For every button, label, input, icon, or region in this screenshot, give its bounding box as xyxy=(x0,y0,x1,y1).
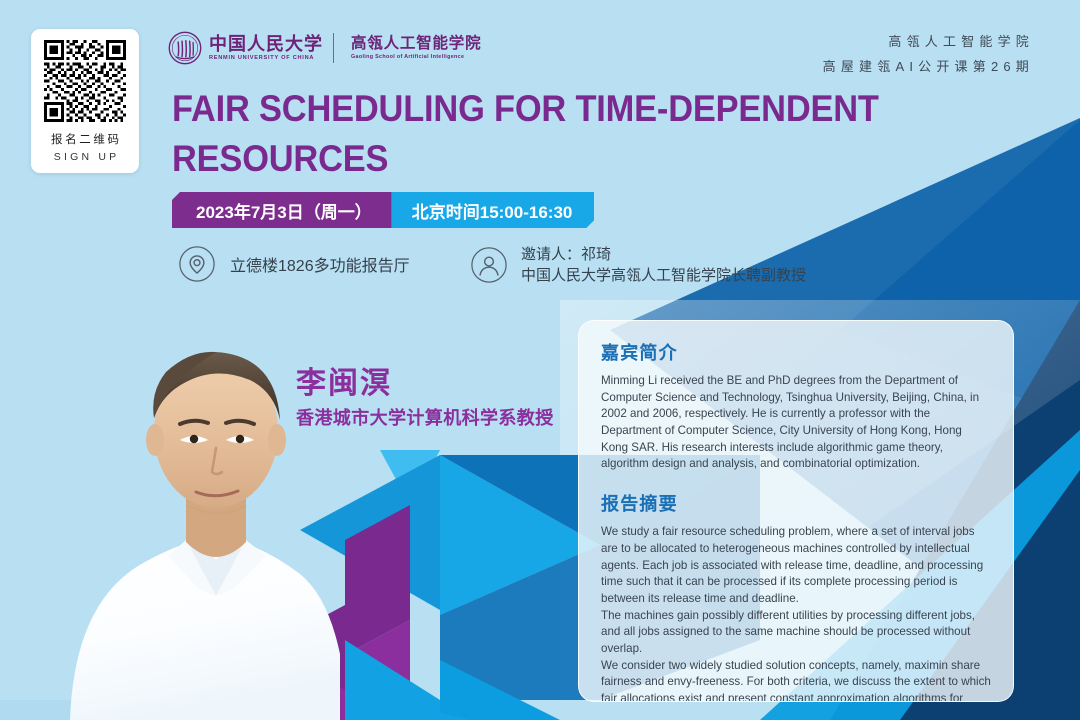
qr-signup-card[interactable]: 报名二维码 SIGN UP xyxy=(31,29,139,173)
qr-label-cn: 报名二维码 xyxy=(48,131,121,147)
abstract-paragraph-3: We consider two widely studied solution … xyxy=(601,658,991,702)
logo-university-en: RENMIN UNIVERSITY OF CHINA xyxy=(209,55,323,61)
host-name: 邀请人：祁琦 xyxy=(521,244,806,265)
person-icon xyxy=(470,246,508,284)
series-episode: 高屋建瓴AI公开课第26期 xyxy=(817,55,1034,80)
datetime-banner: 2023年7月3日（周一） 北京时间15:00-16:30 xyxy=(172,192,594,228)
logo-school-en: Gaoling School of Artificial Intelligenc… xyxy=(351,54,481,60)
lecture-series-info: 高瓴人工智能学院 高屋建瓴AI公开课第26期 xyxy=(817,30,1034,79)
speaker-affiliation: 香港城市大学计算机科学系教授 xyxy=(296,404,554,430)
info-panel: 嘉宾简介 Minming Li received the BE and PhD … xyxy=(578,320,1014,702)
page-title: FAIR SCHEDULING FOR TIME-DEPENDENT RESOU… xyxy=(172,84,916,184)
series-school-name: 高瓴人工智能学院 xyxy=(817,30,1034,55)
renmin-university-seal-icon xyxy=(168,31,202,65)
abstract-heading: 报告摘要 xyxy=(601,490,991,516)
qr-label-en: SIGN UP xyxy=(51,151,120,163)
speaker-name: 李闽溟 xyxy=(296,358,392,402)
location-pin-icon xyxy=(178,245,216,283)
bio-text: Minming Li received the BE and PhD degre… xyxy=(601,373,991,473)
logo-divider xyxy=(333,33,334,63)
seminar-poster: 报名二维码 SIGN UP 中国人民大学 RENMIN UNIVERSITY O… xyxy=(0,0,1080,720)
university-logo: 中国人民大学 RENMIN UNIVERSITY OF CHINA 高瓴人工智能… xyxy=(168,28,481,68)
host-info: 邀请人：祁琦 中国人民大学高瓴人工智能学院长聘副教授 xyxy=(470,244,806,287)
event-date: 2023年7月3日（周一） xyxy=(172,192,392,228)
logo-school-block: 高瓴人工智能学院 Gaoling School of Artificial In… xyxy=(351,36,481,61)
abstract-paragraph-2: The machines gain possibly different uti… xyxy=(601,608,991,658)
qr-code-icon[interactable] xyxy=(44,40,126,122)
abstract-paragraph-1: We study a fair resource scheduling prob… xyxy=(601,524,991,607)
host-title: 中国人民大学高瓴人工智能学院长聘副教授 xyxy=(521,265,806,286)
host-text-block: 邀请人：祁琦 中国人民大学高瓴人工智能学院长聘副教授 xyxy=(521,244,806,287)
logo-university-block: 中国人民大学 RENMIN UNIVERSITY OF CHINA xyxy=(209,35,323,62)
logo-school-cn: 高瓴人工智能学院 xyxy=(351,36,481,52)
venue-text: 立德楼1826多功能报告厅 xyxy=(230,252,410,276)
bio-heading: 嘉宾简介 xyxy=(601,339,991,365)
event-time: 北京时间15:00-16:30 xyxy=(392,192,595,228)
venue-info: 立德楼1826多功能报告厅 xyxy=(178,245,410,283)
logo-university-cn: 中国人民大学 xyxy=(209,35,323,54)
